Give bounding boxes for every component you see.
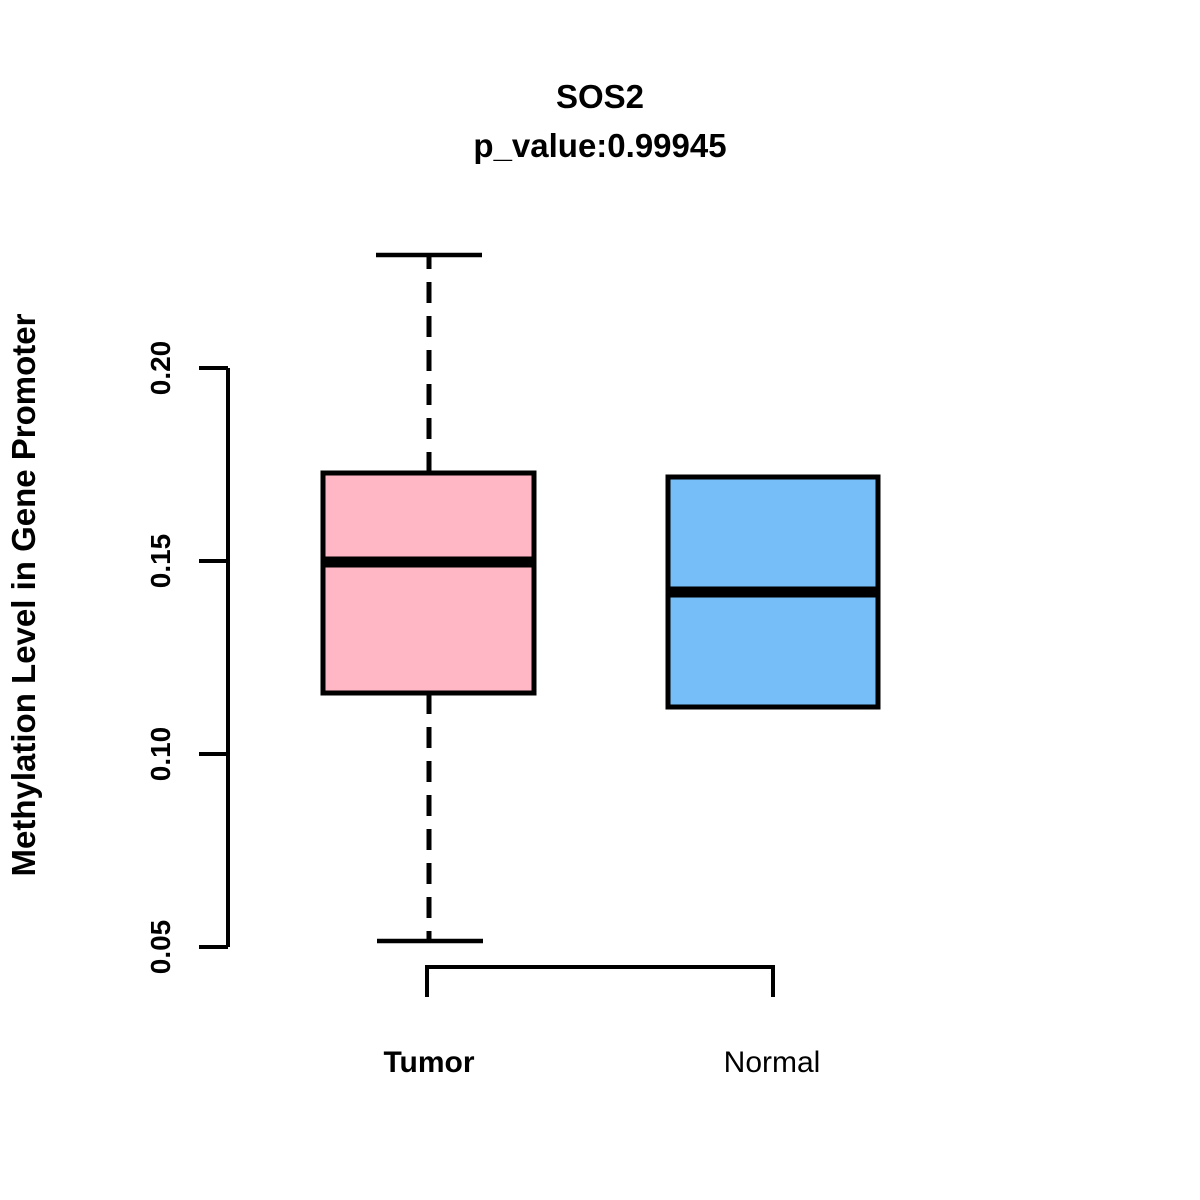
x-tick-label-normal: Normal: [724, 1046, 821, 1079]
x-axis-bracket: [427, 967, 773, 997]
x-tick-label-tumor: Tumor: [383, 1046, 474, 1079]
y-tick-label-2: 0.10: [145, 727, 176, 782]
chart-title: SOS2: [556, 78, 644, 115]
box-group-normal[interactable]: [668, 477, 878, 707]
y-tick-label-1: 0.15: [145, 534, 176, 589]
y-tick-label-0: 0.20: [145, 341, 176, 396]
y-tick-label-3: 0.05: [145, 920, 176, 975]
y-axis-title: Methylation Level in Gene Promoter: [5, 313, 42, 876]
chart-subtitle-pvalue: p_value:0.99945: [473, 127, 726, 164]
plot-canvas: SOS2 p_value:0.99945 Methylation Level i…: [0, 0, 1200, 1200]
tumor-box-body[interactable]: [323, 473, 534, 693]
box-group-tumor[interactable]: [323, 255, 534, 941]
boxplot-figure: SOS2 p_value:0.99945 Methylation Level i…: [0, 0, 1200, 1200]
